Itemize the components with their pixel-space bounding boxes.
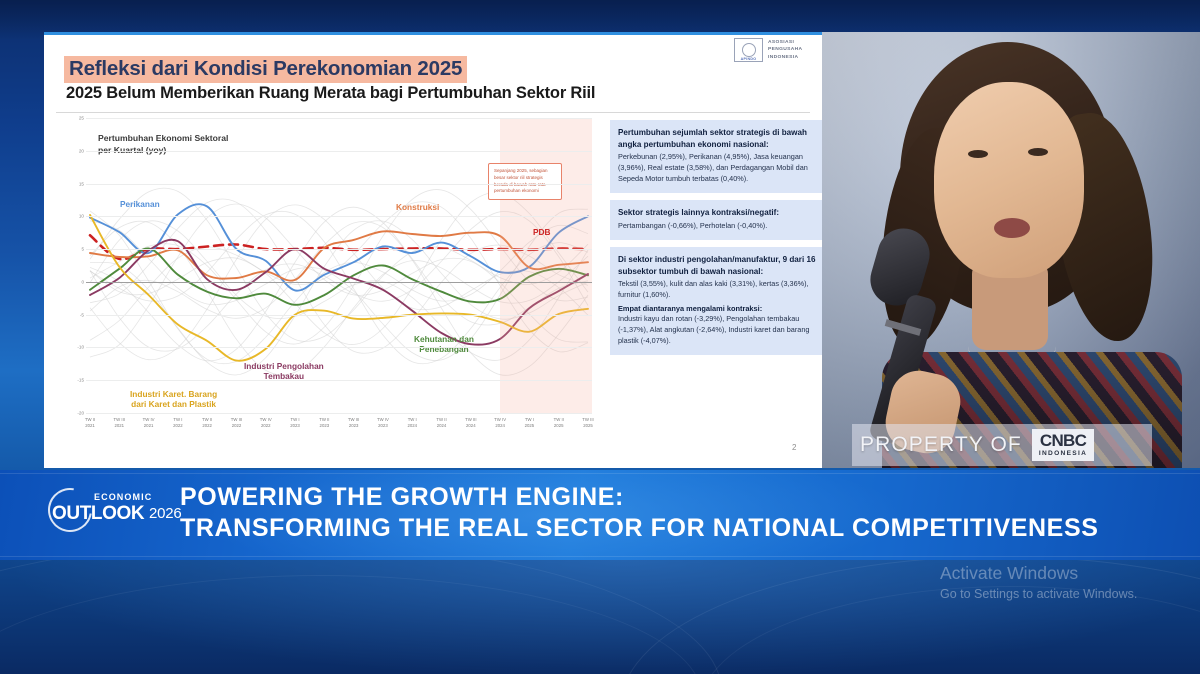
x-axis-tick: TW IV2024	[494, 417, 506, 429]
x-axis-tick: TW IV2021	[143, 417, 155, 429]
insight-card: Sektor strategis lainnya kontraksi/negat…	[610, 200, 822, 240]
speaker-mouth	[994, 218, 1030, 238]
x-axis-tick: TW I2022	[173, 417, 183, 429]
apindo-line-1: ASOSIASI	[768, 39, 802, 47]
insight-card-heading: Di sektor industri pengolahan/manufaktur…	[618, 254, 822, 277]
x-axis-tick: TW II2024	[436, 417, 446, 429]
x-axis-tick: TW III2021	[114, 417, 125, 429]
y-axis-tick: 10	[79, 214, 84, 219]
chart-gridline	[86, 151, 592, 152]
apindo-logo: APINDO ASOSIASI PENGUSAHA INDONESIA	[734, 38, 802, 62]
y-axis-tick: -20	[77, 411, 84, 416]
banner-headline: POWERING THE GROWTH ENGINE: TRANSFORMING…	[180, 482, 1180, 543]
banner-stripe	[0, 556, 1200, 557]
headline-line-1: POWERING THE GROWTH ENGINE:	[180, 482, 1180, 513]
banner-stripe	[0, 473, 1200, 474]
y-axis-tick: -15	[77, 378, 84, 383]
x-axis-tick: TW I2024	[407, 417, 417, 429]
x-axis-tick: TW I2025	[525, 417, 535, 429]
chart-gridline	[86, 118, 592, 119]
speaker-eye-left	[968, 150, 988, 158]
insight-card-body: Pertambangan (-0,66%), Perhotelan (-0,40…	[618, 221, 822, 232]
slide-top-accent	[44, 32, 822, 35]
curve-label-tembakau: Industri PengolahanTembakau	[244, 362, 324, 382]
slide-subtitle: 2025 Belum Memberikan Ruang Merata bagi …	[66, 84, 595, 103]
x-axis-tick: TW III2023	[348, 417, 359, 429]
eo-logo-big: OUTLOOK	[52, 503, 144, 525]
chart-zero-line	[86, 282, 592, 283]
activate-windows-subtitle: Go to Settings to activate Windows.	[940, 586, 1137, 603]
apindo-mark-text: APINDO	[735, 57, 762, 61]
insight-card: Pertumbuhan sejumlah sektor strategis di…	[610, 120, 822, 193]
chart-x-axis-labels: TW II2021TW III2021TW IV2021TW I2022TW I…	[86, 417, 592, 435]
y-axis-tick: 20	[79, 148, 84, 153]
slide-header-divider	[56, 112, 810, 113]
apindo-ring-shape	[742, 43, 756, 57]
curve-label-konstruksi: Konstruksi	[396, 203, 439, 213]
x-axis-tick: TW IV2023	[377, 417, 389, 429]
speaker-face	[934, 82, 1084, 278]
background-swoosh	[0, 540, 722, 674]
headline-line-2: TRANSFORMING THE REAL SECTOR FOR NATIONA…	[180, 513, 1180, 544]
cnbc-logo-brand: CNBC	[1039, 432, 1087, 449]
slide-page-number: 2	[792, 443, 796, 452]
insight-card-heading: Pertumbuhan sejumlah sektor strategis di…	[618, 127, 822, 150]
speaker-eye-right	[1028, 148, 1048, 156]
y-axis-tick: 15	[79, 181, 84, 186]
chart-gridline	[86, 249, 592, 250]
eo-logo-small: ECONOMIC	[94, 492, 152, 502]
economic-outlook-logo: ECONOMIC OUTLOOK 2026	[42, 486, 178, 530]
eo-logo-year: 2026	[149, 505, 182, 522]
y-axis-tick: -5	[80, 312, 84, 317]
activate-windows-title: Activate Windows	[940, 562, 1137, 586]
cnbc-logo-sub: INDONESIA	[1039, 449, 1087, 459]
y-axis-tick: 25	[79, 116, 84, 121]
chart-y-axis: 2520151050-5-10-15-20	[58, 118, 86, 413]
apindo-logo-text: ASOSIASI PENGUSAHA INDONESIA	[768, 39, 802, 62]
x-axis-tick: TW III2022	[231, 417, 242, 429]
curve-label-perikanan: Perikanan	[120, 200, 160, 210]
screen: Refleksi dari Kondisi Perekonomian 2025 …	[0, 0, 1200, 674]
presentation-slide: Refleksi dari Kondisi Perekonomian 2025 …	[44, 32, 822, 468]
x-axis-tick: TW IV2022	[260, 417, 272, 429]
chart-gridline	[86, 315, 592, 316]
chart-gridline	[86, 347, 592, 348]
x-axis-tick: TW II2022	[202, 417, 212, 429]
slide-insights-column: Pertumbuhan sejumlah sektor strategis di…	[610, 120, 822, 362]
curve-label-kehutanan: Kehutanan danPenebangan	[414, 335, 474, 355]
curve-label-karet: Industri Karet. Barangdari Karet dan Pla…	[130, 390, 217, 410]
insight-card-body: Tekstil (3,55%), kulit dan alas kaki (3,…	[618, 279, 822, 301]
curve-label-pdb: PDB	[533, 228, 551, 238]
chart-gridline	[86, 380, 592, 381]
insight-card: Di sektor industri pengolahan/manufaktur…	[610, 247, 822, 355]
y-axis-tick: -10	[77, 345, 84, 350]
chart-gridline	[86, 216, 592, 217]
y-axis-tick: 5	[81, 247, 84, 252]
x-axis-tick: TW III2024	[465, 417, 476, 429]
insight-card-subheading: Empat diantaranya mengalami kontraksi:	[618, 303, 822, 314]
x-axis-tick: TW I2023	[290, 417, 300, 429]
chart-gridline	[86, 413, 592, 414]
apindo-line-2: PENGUSAHA	[768, 46, 802, 54]
x-axis-tick: TW II2021	[85, 417, 95, 429]
speaker-video-feed	[822, 32, 1200, 468]
insight-card-heading: Sektor strategis lainnya kontraksi/negat…	[618, 207, 822, 219]
apindo-mark-icon: APINDO	[734, 38, 763, 62]
windows-activation-watermark: Activate Windows Go to Settings to activ…	[940, 562, 1137, 603]
x-axis-tick: TW III2025	[582, 417, 593, 429]
chart-gridline	[86, 184, 592, 185]
broadcast-watermark: PROPERTY OF CNBC INDONESIA	[852, 424, 1152, 466]
cnbc-logo: CNBC INDONESIA	[1032, 429, 1094, 461]
slide-title: Refleksi dari Kondisi Perekonomian 2025	[64, 56, 467, 83]
apindo-line-3: INDONESIA	[768, 54, 802, 62]
chart-callout-annotation: Sepanjang 2025, sebagian besar sektor ri…	[488, 163, 562, 200]
insight-card-body: Perkebunan (2,95%), Perikanan (4,95%), J…	[618, 152, 822, 185]
background-swoosh	[0, 575, 702, 674]
sectoral-growth-chart: Pertumbuhan Ekonomi Sektoral per Kuartal…	[58, 118, 598, 448]
y-axis-tick: 0	[81, 279, 84, 284]
insight-card-subbody: Industri kayu dan rotan (-3,29%), Pengol…	[618, 314, 822, 347]
property-of-text: PROPERTY OF	[860, 433, 1022, 457]
x-axis-tick: TW II2023	[319, 417, 329, 429]
x-axis-tick: TW II2025	[554, 417, 564, 429]
